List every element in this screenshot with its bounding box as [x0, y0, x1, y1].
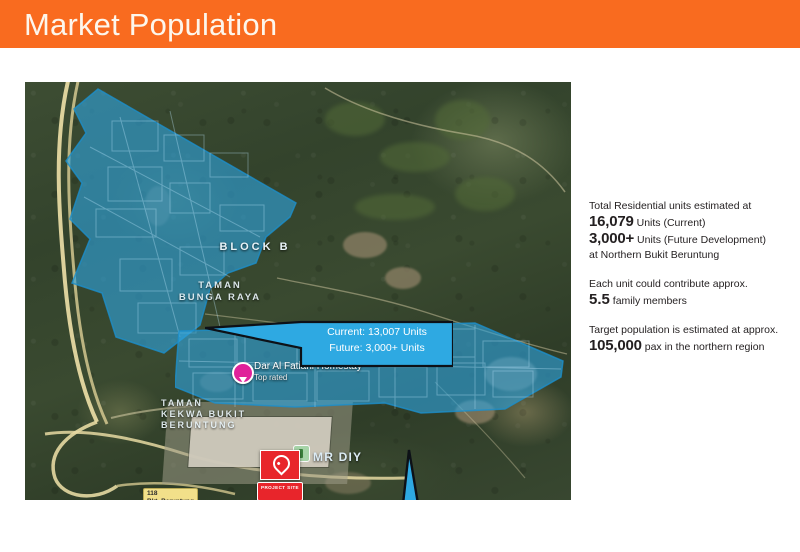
residential-location: at Northern Bukit Beruntung [589, 248, 789, 263]
callout-south-units: Current: 3,072 Units [365, 448, 547, 500]
info-panel: Total Residential units estimated at 16,… [589, 199, 789, 369]
family-value-line: 5.5 family members [589, 292, 789, 309]
info-block-residential-units: Total Residential units estimated at 16,… [589, 199, 789, 263]
population-value-line: 105,000 pax in the northern region [589, 338, 789, 355]
residential-future-line: 3,000+ Units (Future Development) [589, 231, 789, 248]
population-intro: Target population is estimated at approx… [589, 323, 789, 338]
info-block-target-population: Target population is estimated at approx… [589, 323, 789, 355]
callout-north-line1: Current: 13,007 Units [305, 324, 449, 340]
family-value: 5.5 [589, 291, 610, 308]
residential-current-unit: Units (Current) [634, 217, 706, 229]
highway-name: Bkt. Beruntung [147, 498, 194, 500]
population-unit: pax in the northern region [642, 341, 765, 353]
map-pin-icon [269, 451, 293, 475]
residential-current-line: 16,079 Units (Current) [589, 214, 789, 231]
highway-number: 118 [147, 490, 194, 498]
residential-current-value: 16,079 [589, 213, 634, 230]
residential-intro: Total Residential units estimated at [589, 199, 789, 214]
project-site-label: PROJECT SITE [257, 482, 303, 500]
residential-future-unit: Units (Future Development) [634, 234, 766, 246]
project-site-marker[interactable] [260, 450, 300, 480]
info-block-family-size: Each unit could contribute approx. 5.5 f… [589, 277, 789, 309]
callout-north-line2: Future: 3,000+ Units [305, 340, 449, 356]
callout-north-text: Current: 13,007 Units Future: 3,000+ Uni… [305, 324, 449, 356]
family-unit: family members [610, 295, 687, 307]
callout-north-units: Current: 13,007 Units Future: 3,000+ Uni… [205, 318, 453, 368]
page-title: Market Population [24, 2, 277, 48]
highway-shield: 118 Bkt. Beruntung [143, 488, 198, 500]
satellite-map-image: BLOCK B TAMAN BUNGA RAYA TAMAN KEKWA BUK… [25, 82, 571, 500]
population-value: 105,000 [589, 337, 642, 354]
residential-future-value: 3,000+ [589, 230, 634, 247]
poi-homestay-rating: Top rated [254, 373, 287, 382]
family-intro: Each unit could contribute approx. [589, 277, 789, 292]
poi-project-site[interactable]: PROJECT SITE [260, 450, 300, 480]
